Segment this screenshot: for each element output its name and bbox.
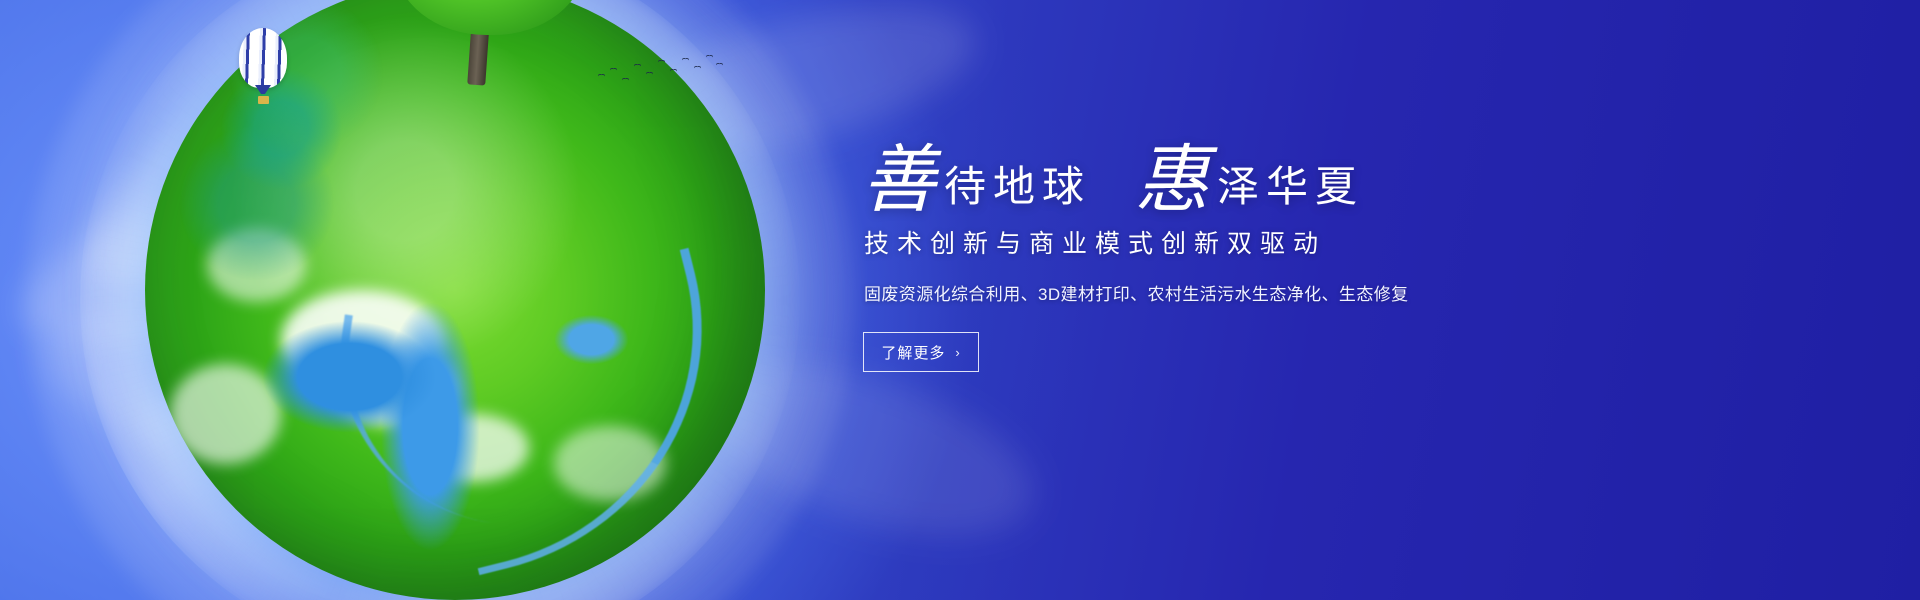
- headline-word-1: 待地球: [936, 166, 1091, 214]
- chevron-right-icon: ›: [955, 345, 960, 360]
- learn-more-label: 了解更多: [881, 342, 945, 363]
- banner-copy: 善 待地球 惠 泽华夏 技术创新与商业模式创新双驱动 固废资源化综合利用、3D建…: [862, 128, 1562, 372]
- headline-char-1: 善: [862, 146, 936, 214]
- page-title: 善 待地球 惠 泽华夏: [862, 128, 1562, 214]
- learn-more-button[interactable]: 了解更多 ›: [863, 332, 979, 372]
- balloon-basket: [258, 96, 269, 104]
- hot-air-balloon-icon: [239, 28, 287, 112]
- headline-word-2: 泽华夏: [1209, 166, 1364, 214]
- bird-flock-icon: [596, 52, 726, 92]
- balloon-skirt: [255, 85, 271, 94]
- balloon-envelope: [239, 28, 287, 88]
- headline-char-2: 惠: [1135, 146, 1209, 214]
- banner-description: 固废资源化综合利用、3D建材打印、农村生活污水生态净化、生态修复: [864, 280, 1562, 305]
- hero-banner: 善 待地球 惠 泽华夏 技术创新与商业模式创新双驱动 固废资源化综合利用、3D建…: [0, 0, 1920, 600]
- banner-subtitle: 技术创新与商业模式创新双驱动: [864, 224, 1562, 260]
